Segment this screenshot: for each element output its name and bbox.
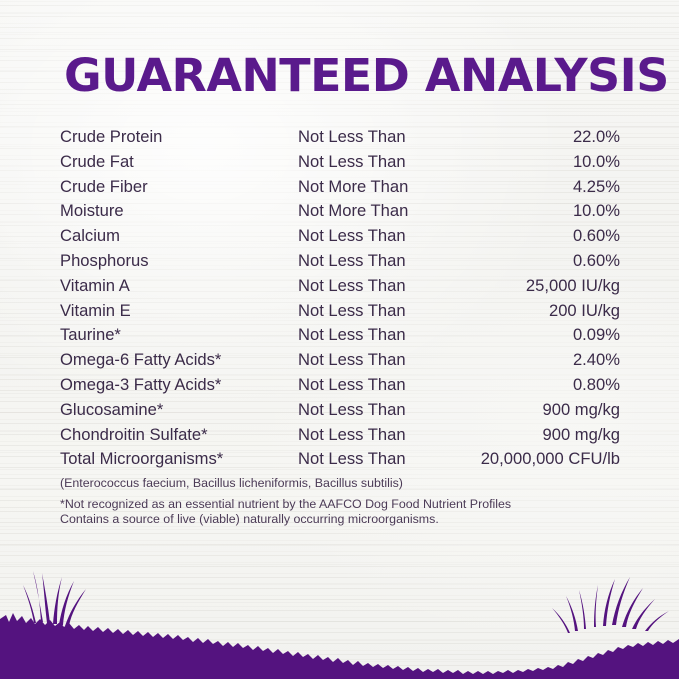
nutrient-value: 10.0% (573, 152, 620, 172)
nutrient-value: 22.0% (573, 127, 620, 147)
nutrient-qualifier: Not Less Than (298, 375, 406, 395)
table-row: Total Microorganisms*Not Less Than20,000… (60, 449, 620, 474)
nutrient-value: 20,000,000 CFU/lb (481, 449, 620, 469)
nutrient-name: Taurine* (60, 325, 121, 345)
nutrient-qualifier: Not Less Than (298, 449, 406, 469)
nutrition-table: Crude ProteinNot Less Than22.0%Crude Fat… (60, 127, 620, 474)
nutrient-value: 2.40% (573, 350, 620, 370)
nutrient-qualifier: Not Less Than (298, 226, 406, 246)
nutrient-name: Vitamin A (60, 276, 130, 296)
grass-hill (0, 613, 679, 679)
nutrient-value: 0.60% (573, 251, 620, 271)
nutrient-value: 10.0% (573, 201, 620, 221)
nutrient-value: 0.60% (573, 226, 620, 246)
nutrient-name: Omega-6 Fatty Acids* (60, 350, 221, 370)
nutrient-qualifier: Not Less Than (298, 400, 406, 420)
table-row: MoistureNot More Than10.0% (60, 201, 620, 226)
nutrient-qualifier: Not Less Than (298, 276, 406, 296)
table-row: PhosphorusNot Less Than0.60% (60, 251, 620, 276)
nutrient-name: Vitamin E (60, 301, 131, 321)
table-row: Vitamin ENot Less Than200 IU/kg (60, 301, 620, 326)
nutrient-qualifier: Not More Than (298, 177, 408, 197)
nutrient-qualifier: Not Less Than (298, 251, 406, 271)
page-title: GUARANTEED ANALYSIS (64, 49, 669, 102)
nutrient-qualifier: Not Less Than (298, 350, 406, 370)
nutrient-qualifier: Not Less Than (298, 127, 406, 147)
nutrient-name: Crude Fiber (60, 177, 148, 197)
table-row: Crude FiberNot More Than4.25% (60, 177, 620, 202)
nutrient-value: 25,000 IU/kg (526, 276, 620, 296)
nutrient-name: Moisture (60, 201, 124, 221)
guaranteed-analysis-panel: GUARANTEED ANALYSIS Crude ProteinNot Les… (0, 0, 679, 679)
nutrient-name: Phosphorus (60, 251, 149, 271)
grass-blades-left (23, 571, 86, 626)
nutrient-name: Omega-3 Fatty Acids* (60, 375, 221, 395)
nutrient-qualifier: Not Less Than (298, 301, 406, 321)
table-row: Omega-6 Fatty Acids*Not Less Than2.40% (60, 350, 620, 375)
table-row: Omega-3 Fatty Acids*Not Less Than0.80% (60, 375, 620, 400)
nutrient-value: 4.25% (573, 177, 620, 197)
footnote-line-1: *Not recognized as an essential nutrient… (60, 497, 511, 512)
table-row: Vitamin ANot Less Than25,000 IU/kg (60, 276, 620, 301)
nutrient-value: 900 mg/kg (543, 400, 620, 420)
nutrient-name: Calcium (60, 226, 120, 246)
nutrient-value: 0.09% (573, 325, 620, 345)
nutrient-qualifier: Not Less Than (298, 325, 406, 345)
nutrient-qualifier: Not More Than (298, 201, 408, 221)
nutrient-value: 900 mg/kg (543, 425, 620, 445)
table-row: CalciumNot Less Than0.60% (60, 226, 620, 251)
nutrient-value: 200 IU/kg (549, 301, 620, 321)
nutrient-name: Glucosamine* (60, 400, 163, 420)
grass-silhouette-icon (0, 519, 679, 679)
table-row: Glucosamine*Not Less Than900 mg/kg (60, 400, 620, 425)
table-row: Crude FatNot Less Than10.0% (60, 152, 620, 177)
nutrient-value: 0.80% (573, 375, 620, 395)
microorganism-strains-note: (Enterococcus faecium, Bacillus lichenif… (60, 476, 403, 490)
nutrient-name: Total Microorganisms* (60, 449, 223, 469)
table-row: Chondroitin Sulfate*Not Less Than900 mg/… (60, 425, 620, 450)
table-row: Crude ProteinNot Less Than22.0% (60, 127, 620, 152)
nutrient-name: Crude Protein (60, 127, 162, 147)
table-row: Taurine*Not Less Than0.09% (60, 325, 620, 350)
nutrient-qualifier: Not Less Than (298, 425, 406, 445)
nutrient-qualifier: Not Less Than (298, 152, 406, 172)
nutrient-name: Chondroitin Sulfate* (60, 425, 208, 445)
nutrient-name: Crude Fat (60, 152, 134, 172)
grass-blades-right (552, 577, 669, 633)
